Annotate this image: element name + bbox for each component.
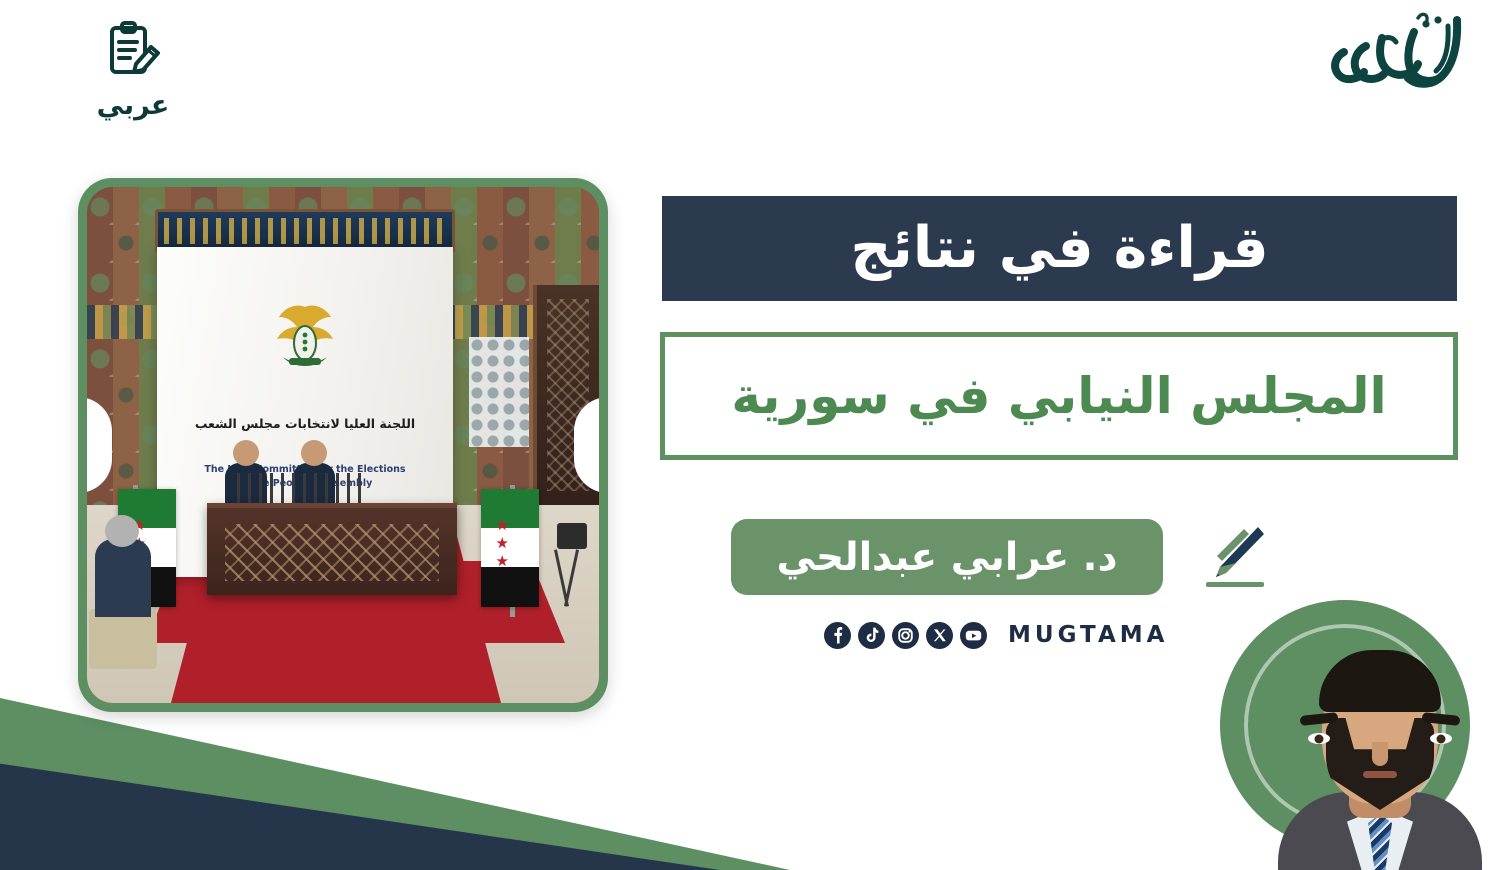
banner-arabic-text: اللجنة العليا لانتخابات مجلس الشعب	[157, 415, 453, 434]
avatar-eye-left	[1308, 733, 1330, 744]
audience-head	[105, 515, 139, 547]
syrian-flag-right: ★ ★ ★	[481, 489, 539, 607]
speaker-left-head	[233, 440, 259, 466]
youtube-icon[interactable]	[960, 622, 987, 649]
article-subtitle: المجلس النيابي في سورية	[731, 371, 1386, 421]
author-portrait	[1210, 580, 1500, 870]
language-badge[interactable]: عربي	[78, 20, 188, 121]
speaker-right-head	[301, 440, 327, 466]
tripod-leg-b	[554, 549, 569, 606]
brand-wordmark: MUGTAMA	[1008, 622, 1168, 648]
avatar-eye-right	[1430, 733, 1452, 744]
tv-camera	[545, 523, 591, 607]
mugtama-logo[interactable]	[1322, 6, 1472, 102]
page-title: قراءة في نتائج	[850, 220, 1268, 277]
article-title-bar: قراءة في نتائج	[662, 196, 1457, 301]
social-links-row[interactable]: MUGTAMA	[824, 618, 1168, 652]
poster-canvas: عربي	[0, 0, 1500, 870]
avatar-mouth	[1363, 771, 1397, 778]
tiktok-icon[interactable]	[858, 622, 885, 649]
article-photo-card: اللجنة العليا لانتخابات مجلس الشعب The H…	[78, 178, 608, 712]
avatar-photo	[1270, 620, 1490, 870]
audience-member	[89, 529, 159, 669]
window-lattice	[469, 337, 529, 447]
author-name: د. عرابي عبدالحي	[776, 538, 1117, 577]
camera-body	[557, 523, 587, 549]
syrian-eagle-emblem	[263, 299, 347, 377]
press-conference-scene: اللجنة العليا لانتخابات مجلس الشعب The H…	[87, 187, 599, 703]
audience-body	[95, 539, 151, 617]
author-badge[interactable]: د. عرابي عبدالحي	[731, 519, 1163, 595]
avatar-face	[1270, 620, 1490, 870]
facebook-icon[interactable]	[824, 622, 851, 649]
avatar-nose	[1372, 742, 1388, 766]
carved-desk	[207, 503, 457, 595]
language-badge-label: عربي	[78, 90, 188, 121]
desk-carving	[225, 524, 439, 581]
x-twitter-icon[interactable]	[926, 622, 953, 649]
flag-stars-right: ★ ★ ★	[496, 516, 525, 570]
instagram-icon[interactable]	[892, 622, 919, 649]
microphone-cluster	[237, 473, 365, 507]
article-subtitle-box: المجلس النيابي في سورية	[660, 332, 1458, 460]
audience-chair	[89, 609, 157, 669]
avatar-hair	[1319, 650, 1441, 712]
clipboard-pencil-icon	[78, 20, 188, 84]
article-photo: اللجنة العليا لانتخابات مجلس الشعب The H…	[87, 187, 599, 703]
